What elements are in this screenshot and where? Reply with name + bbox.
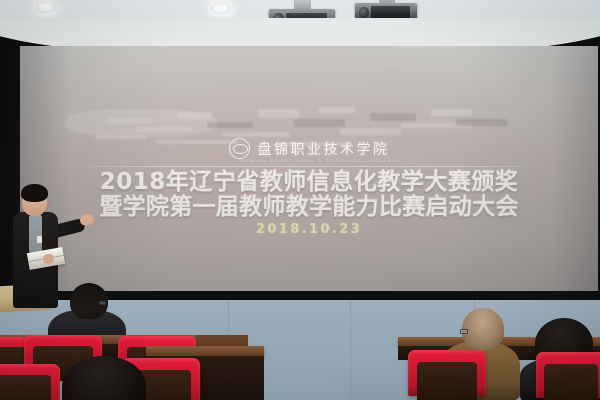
auditorium-seat-front: [0, 364, 60, 400]
projection-screen-surface: 盘锦职业技术学院 PANJIN VOCATIONAL & TECHNICAL C…: [20, 46, 598, 291]
presenter-hair: [21, 184, 48, 202]
wall-seam: [350, 300, 351, 400]
presenter-inner-shirt: [29, 214, 42, 254]
ceiling-downlight-left-icon: [36, 2, 56, 13]
projector-body: [371, 6, 409, 18]
seat-shadow: [544, 364, 597, 400]
slide-divider-rule: [66, 166, 552, 167]
auditorium-scene: 盘锦职业技术学院 PANJIN VOCATIONAL & TECHNICAL C…: [0, 0, 600, 400]
desk-row-lower: [146, 346, 264, 356]
audience-head: [462, 308, 504, 350]
projector-mount: [379, 0, 395, 4]
auditorium-seat: [408, 350, 486, 396]
auditorium-seat: [536, 352, 600, 398]
projector-mount: [294, 0, 311, 10]
college-name-english-text: PANJIN VOCATIONAL & TECHNICAL COLLEGE: [20, 158, 598, 163]
slide-date-text: 2018.10.23: [20, 222, 598, 237]
slide-title-line-2: 暨学院第一届教师教学能力比赛启动大会: [20, 195, 598, 220]
seat-shadow: [0, 375, 51, 400]
audience-glasses-icon: [460, 329, 468, 334]
presenter-hand-holding-notes: [43, 254, 54, 264]
ceiling-downlight-right-icon: [211, 3, 231, 14]
audience-glasses-icon: [99, 301, 106, 305]
slide-background-photo: [55, 56, 564, 183]
seat-shadow: [417, 362, 476, 400]
presenter-name-badge: [37, 236, 42, 243]
projector-lens-icon: [359, 7, 369, 18]
